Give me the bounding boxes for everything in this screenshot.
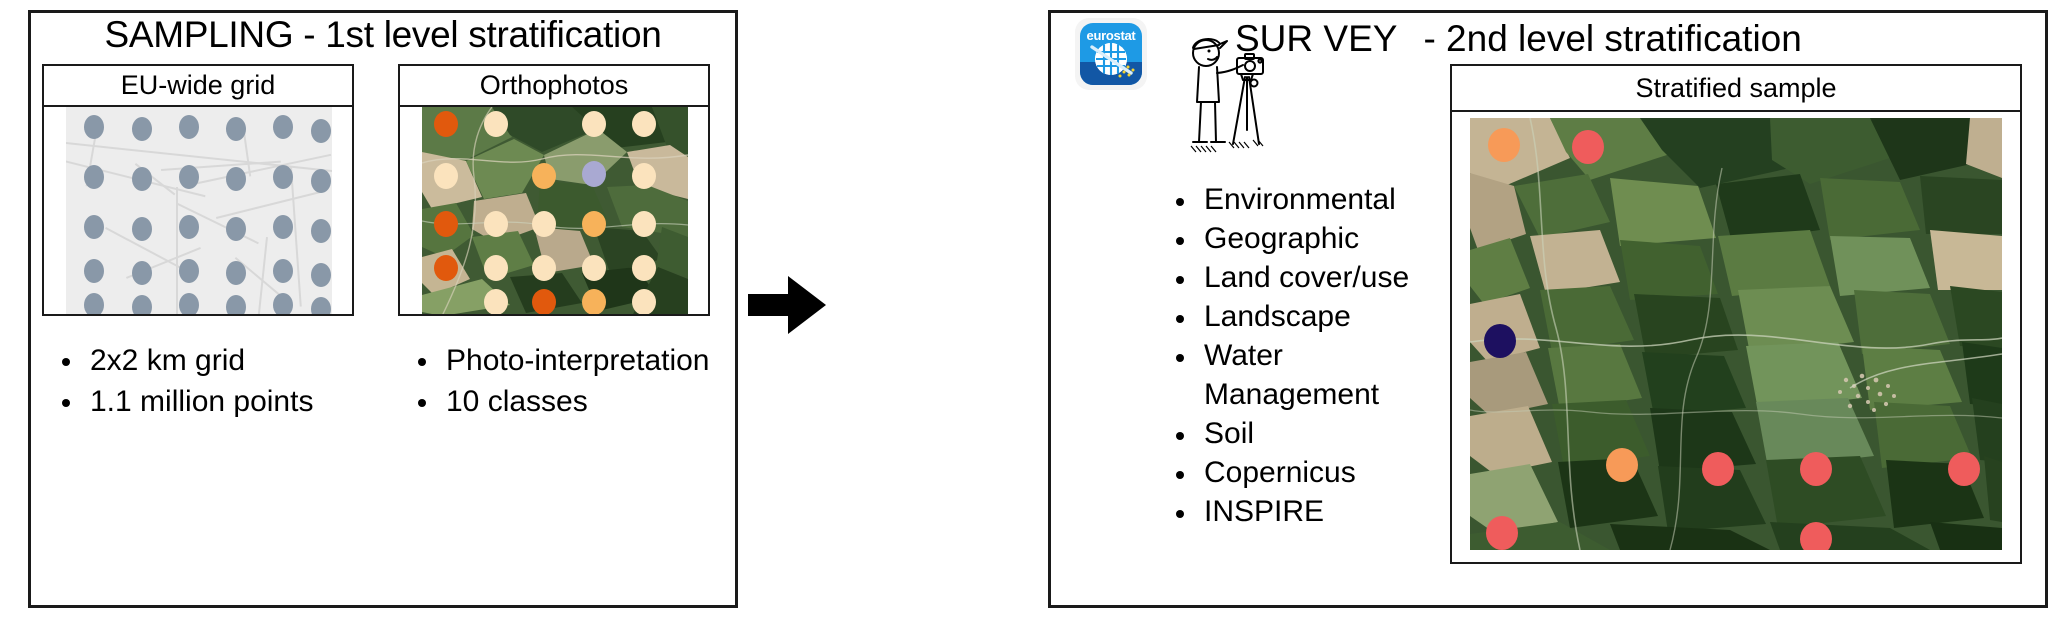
diagram-canvas: SAMPLING - 1st level stratification EU-w… bbox=[0, 0, 2067, 620]
grid-point bbox=[84, 259, 104, 283]
sample-point-red bbox=[1800, 452, 1832, 486]
ortho-point-cream bbox=[532, 211, 556, 237]
grid-point bbox=[311, 263, 331, 287]
list-item: Photo-interpretation bbox=[412, 340, 710, 381]
eurostat-globe-icon bbox=[1080, 23, 1142, 85]
grid-point bbox=[273, 293, 293, 314]
ortho-point-cream bbox=[582, 111, 606, 137]
sample-point-red bbox=[1572, 130, 1604, 164]
grid-point bbox=[311, 297, 331, 314]
ortho-point-cream bbox=[484, 211, 508, 237]
map-line bbox=[216, 190, 323, 218]
stratified-sample-body bbox=[1452, 112, 2020, 562]
orthophotos-body bbox=[400, 107, 708, 314]
list-item: Copernicus bbox=[1170, 453, 1409, 492]
eu-wide-grid-map bbox=[66, 107, 332, 314]
grid-point bbox=[226, 117, 246, 141]
grid-point bbox=[273, 165, 293, 189]
stratified-sample-box: Stratified sample bbox=[1450, 64, 2022, 564]
sampling-heading: SAMPLING - 1st level stratification bbox=[28, 14, 738, 56]
grid-point bbox=[179, 115, 199, 139]
ortho-point-cream bbox=[484, 255, 508, 281]
ortho-point-cream bbox=[484, 289, 508, 314]
list-item-continuation: Management bbox=[1170, 375, 1409, 414]
grid-point bbox=[311, 119, 331, 143]
stratified-sample-title: Stratified sample bbox=[1452, 66, 2020, 112]
list-item: 1.1 million points bbox=[56, 381, 313, 422]
ortho-point-dark-orange bbox=[434, 111, 458, 137]
grid-point bbox=[132, 295, 152, 314]
grid-point bbox=[179, 293, 199, 314]
grid-point bbox=[132, 217, 152, 241]
grid-point bbox=[273, 115, 293, 139]
list-item: Land cover/use bbox=[1170, 258, 1409, 297]
ortho-point-cream bbox=[632, 211, 656, 237]
sample-point-red bbox=[1800, 522, 1832, 550]
surveyor-artwork bbox=[1175, 30, 1285, 170]
survey-heading-part2: - 2nd level stratification bbox=[1423, 18, 1801, 59]
sample-point-red bbox=[1702, 452, 1734, 486]
grid-point bbox=[132, 261, 152, 285]
grid-point bbox=[132, 117, 152, 141]
ortho-point-cream bbox=[632, 163, 656, 189]
grid-point bbox=[226, 261, 246, 285]
ortho-point-light-orange bbox=[582, 289, 606, 314]
list-item: 2x2 km grid bbox=[56, 340, 313, 381]
grid-point bbox=[226, 295, 246, 314]
map-line bbox=[184, 154, 331, 187]
sample-point-red bbox=[1486, 516, 1518, 550]
grid-point bbox=[311, 219, 331, 243]
orthophoto-image bbox=[422, 107, 688, 314]
grid-point bbox=[84, 215, 104, 239]
map-line bbox=[290, 167, 301, 307]
list-item: Landscape bbox=[1170, 297, 1409, 336]
eu-wide-grid-body bbox=[44, 107, 352, 314]
grid-point bbox=[84, 165, 104, 189]
ortho-point-dark-orange bbox=[532, 289, 556, 314]
map-line bbox=[176, 187, 178, 314]
survey-heading: SUR VEY- 2nd level stratification bbox=[1235, 18, 1802, 60]
grid-point bbox=[84, 115, 104, 139]
ortho-point-cream bbox=[434, 163, 458, 189]
map-line bbox=[66, 141, 332, 174]
grid-point bbox=[179, 165, 199, 189]
grid-point bbox=[84, 293, 104, 314]
sample-point-red bbox=[1948, 452, 1980, 486]
ortho-point-cream bbox=[484, 111, 508, 137]
stratified-sample-artwork bbox=[1470, 118, 2002, 550]
eu-wide-grid-box: EU-wide grid bbox=[42, 64, 354, 316]
list-item: Environmental bbox=[1170, 180, 1409, 219]
eurostat-logo-icon: eurostat bbox=[1075, 18, 1147, 90]
eurostat-badge: eurostat bbox=[1080, 23, 1142, 85]
ortho-point-cream bbox=[632, 111, 656, 137]
grid-point bbox=[179, 215, 199, 239]
list-item: Geographic bbox=[1170, 219, 1409, 258]
list-item: INSPIRE bbox=[1170, 492, 1409, 531]
ortho-point-light-orange bbox=[532, 163, 556, 189]
list-item: Soil bbox=[1170, 414, 1409, 453]
ortho-point-cream bbox=[582, 255, 606, 281]
orthophotos-title: Orthophotos bbox=[400, 66, 708, 107]
ortho-point-dark-orange bbox=[434, 255, 458, 281]
grid-point bbox=[226, 167, 246, 191]
grid-point bbox=[226, 217, 246, 241]
grid-point bbox=[179, 259, 199, 283]
grid-point bbox=[273, 259, 293, 283]
ortho-point-cream bbox=[632, 255, 656, 281]
list-item: 10 classes bbox=[412, 381, 710, 422]
sample-point-orange bbox=[1488, 128, 1520, 162]
sample-point-navy bbox=[1484, 324, 1516, 358]
ortho-point-cream bbox=[632, 289, 656, 314]
stratified-sample-image bbox=[1470, 118, 2002, 550]
orthophoto-bullet-list: Photo-interpretation 10 classes bbox=[412, 340, 710, 422]
flow-arrow bbox=[748, 270, 828, 340]
orthophoto-artwork bbox=[422, 107, 688, 314]
ortho-point-dark-orange bbox=[434, 211, 458, 237]
orthophotos-box: Orthophotos bbox=[398, 64, 710, 316]
list-item: Water bbox=[1170, 336, 1409, 375]
ortho-point-cream bbox=[532, 255, 556, 281]
grid-point bbox=[273, 215, 293, 239]
ortho-point-light-orange bbox=[582, 211, 606, 237]
ortho-point-lavender bbox=[582, 161, 606, 187]
survey-bullet-list: Environmental Geographic Land cover/use … bbox=[1170, 180, 1409, 531]
grid-point bbox=[311, 169, 331, 193]
grid-point bbox=[132, 167, 152, 191]
grid-bullet-list: 2x2 km grid 1.1 million points bbox=[56, 340, 313, 422]
surveyor-with-camera-tripod-icon bbox=[1175, 30, 1285, 170]
sample-point-orange bbox=[1606, 448, 1638, 482]
right-arrow-icon bbox=[748, 270, 828, 340]
eu-wide-grid-title: EU-wide grid bbox=[44, 66, 352, 107]
